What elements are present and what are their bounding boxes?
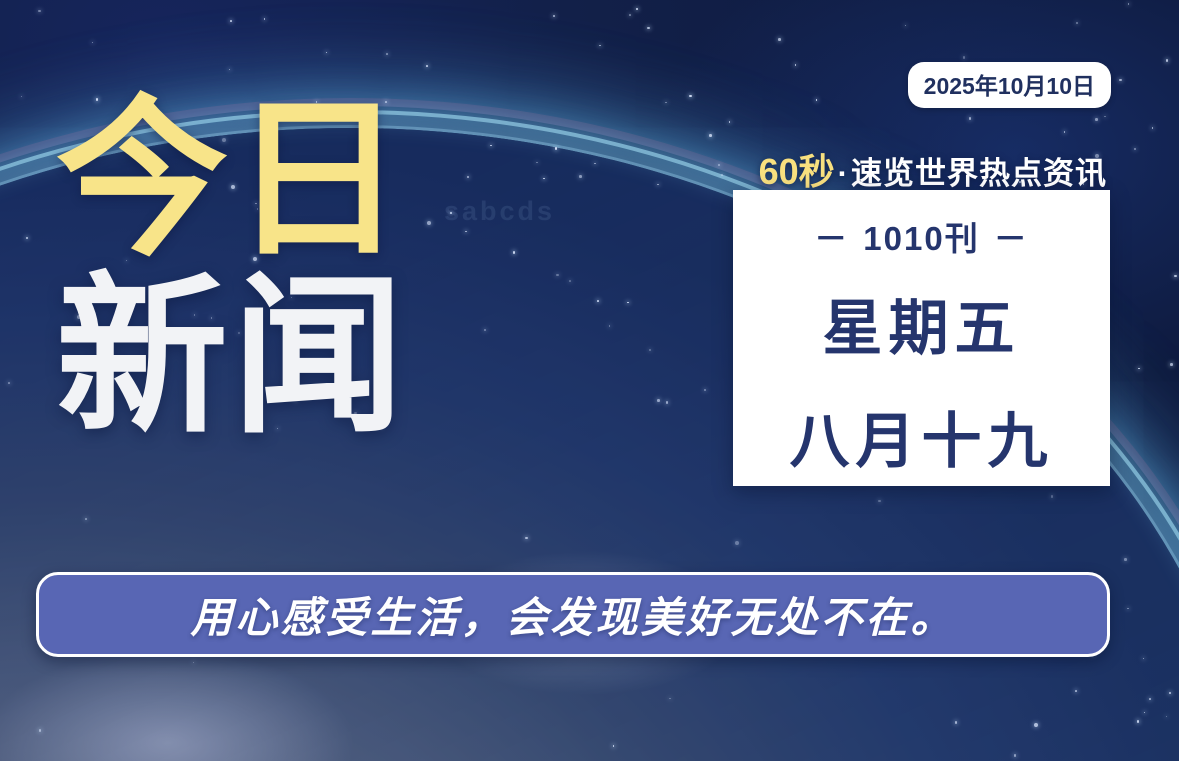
issue-number-row: －1010刊－ — [800, 212, 1042, 260]
issue-number: 1010刊 — [863, 220, 979, 257]
background-watermark: sabcds — [444, 196, 555, 227]
weekday-label: 星期五 — [823, 280, 1021, 367]
dash-left: － — [814, 220, 849, 257]
title-line-jinri: 今日 — [56, 96, 408, 265]
dash-right: － — [994, 220, 1029, 257]
tagline-subtitle: 速览世界热点资讯 — [851, 156, 1107, 191]
poster-title: 今日 新闻 — [56, 96, 408, 441]
quote-banner: 用心感受生活，会发现美好无处不在。 — [36, 572, 1110, 657]
date-badge: 2025年10月10日 — [908, 62, 1111, 108]
tagline: 60秒·速览世界热点资讯 — [759, 143, 1107, 195]
title-line-xinwen: 新闻 — [56, 273, 408, 442]
lunar-date-label: 八月十九 — [790, 393, 1054, 480]
quote-text: 用心感受生活，会发现美好无处不在。 — [190, 584, 955, 645]
tagline-seconds: 60秒 — [759, 151, 835, 192]
issue-card: －1010刊－ 星期五 八月十九 — [733, 190, 1110, 486]
news-poster: sabcds 今日 新闻 2025年10月10日 60秒·速览世界热点资讯 －1… — [0, 0, 1179, 761]
tagline-separator: · — [838, 156, 848, 191]
